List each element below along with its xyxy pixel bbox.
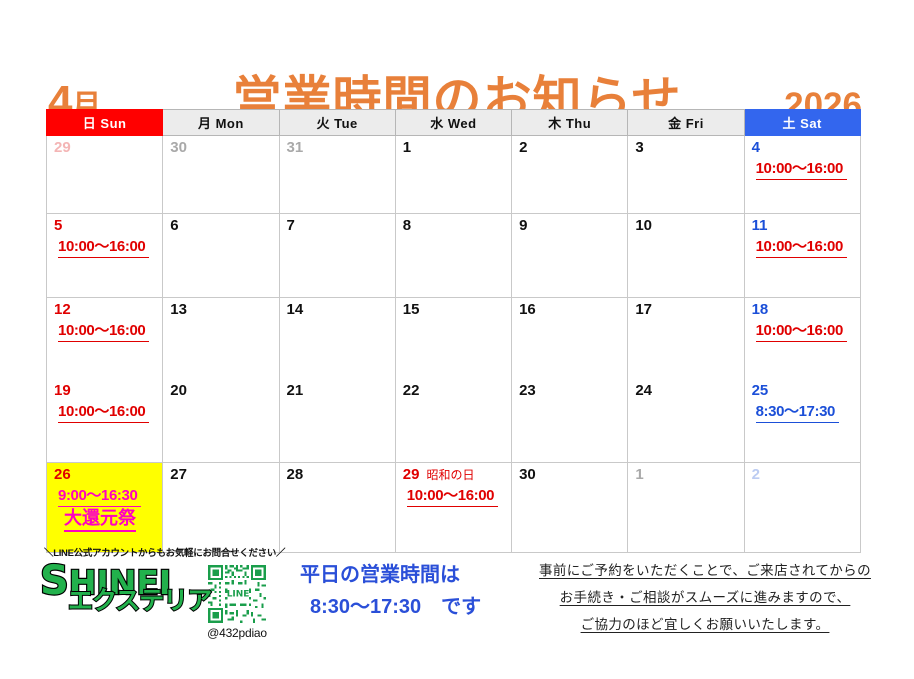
day-number: 11 — [752, 217, 855, 234]
day-number: 13 — [170, 301, 273, 318]
calendar-day-cell[interactable]: 3 — [628, 136, 744, 214]
calendar-day-cell[interactable]: 2 — [512, 136, 628, 214]
weekday-header-wed: 水 Wed — [395, 110, 511, 136]
day-number: 10 — [635, 217, 738, 234]
calendar-table: 日 Sun 月 Mon 火 Tue 水 Wed 木 Thu 金 Fri 土 Sa… — [46, 109, 861, 553]
reservation-note-line1: 事前にご予約をいただくことで、ご来店されてからの — [520, 557, 890, 584]
business-hours: 10:00～16:00 — [58, 403, 149, 423]
day-number: 4 — [752, 139, 855, 156]
business-hours: 10:00～16:00 — [58, 322, 149, 342]
calendar-week-row: 1210:00～16:0013141516171810:00～16:00 — [47, 298, 861, 380]
calendar-day-cell[interactable]: 29 — [47, 136, 163, 214]
logo-subtitle: エクステリア — [68, 589, 211, 614]
calendar-day-cell[interactable]: 410:00～16:00 — [744, 136, 860, 214]
day-number: 24 — [635, 382, 738, 399]
day-number: 12 — [54, 301, 157, 318]
day-number: 22 — [403, 382, 506, 399]
calendar-day-cell[interactable]: 1210:00～16:00 — [47, 298, 163, 380]
day-number: 6 — [170, 217, 273, 234]
calendar-day-cell[interactable]: 8 — [395, 214, 511, 298]
weekday-header-sat: 土 Sat — [744, 110, 860, 136]
calendar-day-cell[interactable]: 13 — [163, 298, 279, 380]
weekday-header-mon: 月 Mon — [163, 110, 279, 136]
day-number: 28 — [287, 466, 390, 483]
calendar-week-row: 1910:00～16:002021222324258:30～17:30 — [47, 379, 861, 463]
day-number: 31 — [287, 139, 390, 156]
day-number: 29 — [54, 139, 157, 156]
weekday-header-row: 日 Sun 月 Mon 火 Tue 水 Wed 木 Thu 金 Fri 土 Sa… — [47, 110, 861, 136]
calendar-day-cell[interactable]: 258:30～17:30 — [744, 379, 860, 463]
day-number: 20 — [170, 382, 273, 399]
calendar-day-cell[interactable]: 15 — [395, 298, 511, 380]
calendar-day-cell[interactable]: 510:00～16:00 — [47, 214, 163, 298]
weekday-hours-line1: 平日の営業時間は — [300, 564, 460, 586]
day-number: 7 — [287, 217, 390, 234]
calendar-body: 293031123410:00～16:00510:00～16:006789101… — [47, 136, 861, 553]
day-number: 9 — [519, 217, 622, 234]
calendar-day-cell[interactable]: 20 — [163, 379, 279, 463]
calendar-day-cell[interactable]: 22 — [395, 379, 511, 463]
weekday-header-thu: 木 Thu — [512, 110, 628, 136]
day-number: 16 — [519, 301, 622, 318]
weekday-header-fri: 金 Fri — [628, 110, 744, 136]
business-hours: 10:00～16:00 — [58, 238, 149, 258]
business-hours: 10:00～16:00 — [756, 322, 847, 342]
calendar-day-cell[interactable]: 29昭和の日10:00～16:00 — [395, 463, 511, 553]
calendar-day-cell[interactable]: 1110:00～16:00 — [744, 214, 860, 298]
day-number: 3 — [635, 139, 738, 156]
reservation-note-line2: お手続き・ご相談がスムーズに進みますので、 — [520, 584, 890, 611]
line-account-id: @432pdiao — [206, 626, 268, 640]
business-hours: 10:00～16:00 — [756, 160, 847, 180]
svg-text:LINE: LINE — [227, 589, 250, 599]
footer: ＼LINE公式アカウントからもお気軽にお問合せください／ SHINEI エクステ… — [0, 545, 914, 679]
calendar-day-cell[interactable]: 27 — [163, 463, 279, 553]
weekday-hours-line2: 8:30～17:30 です — [310, 591, 515, 623]
calendar-day-cell[interactable]: 7 — [279, 214, 395, 298]
calendar-day-cell[interactable]: 17 — [628, 298, 744, 380]
day-number: 29昭和の日 — [403, 466, 506, 483]
calendar-day-cell[interactable]: 269:00～16:30大還元祭 — [47, 463, 163, 553]
qr-block: LINE @432pdiao — [206, 563, 268, 640]
reservation-note-line3: ご協力のほど宜しくお願いいたします。 — [520, 611, 890, 638]
calendar-week-row: 293031123410:00～16:00 — [47, 136, 861, 214]
calendar-day-cell[interactable]: 10 — [628, 214, 744, 298]
day-number: 21 — [287, 382, 390, 399]
calendar-day-cell[interactable]: 31 — [279, 136, 395, 214]
day-number: 1 — [635, 466, 738, 483]
day-number: 30 — [519, 466, 622, 483]
holiday-label: 昭和の日 — [426, 468, 474, 482]
calendar-day-cell[interactable]: 2 — [744, 463, 860, 553]
calendar-day-cell[interactable]: 9 — [512, 214, 628, 298]
day-number: 14 — [287, 301, 390, 318]
calendar-week-row: 269:00～16:30大還元祭272829昭和の日10:00～16:00301… — [47, 463, 861, 553]
weekday-hours-note: 平日の営業時間は 8:30～17:30 です — [300, 559, 515, 623]
day-number: 30 — [170, 139, 273, 156]
calendar-day-cell[interactable]: 30 — [512, 463, 628, 553]
business-hours: 10:00～16:00 — [756, 238, 847, 258]
event-label: 大還元祭 — [64, 508, 136, 532]
calendar-week-row: 510:00～16:006789101110:00～16:00 — [47, 214, 861, 298]
calendar-day-cell[interactable]: 14 — [279, 298, 395, 380]
day-number: 26 — [54, 466, 157, 483]
day-number: 1 — [403, 139, 506, 156]
calendar-day-cell[interactable]: 1910:00～16:00 — [47, 379, 163, 463]
business-hours: 8:30～17:30 — [756, 403, 839, 423]
calendar-day-cell[interactable]: 24 — [628, 379, 744, 463]
day-number: 2 — [519, 139, 622, 156]
line-qr-code-icon[interactable]: LINE — [206, 563, 268, 625]
weekday-header-tue: 火 Tue — [279, 110, 395, 136]
day-number: 5 — [54, 217, 157, 234]
calendar-day-cell[interactable]: 1 — [395, 136, 511, 214]
day-number: 8 — [403, 217, 506, 234]
logo-initial: S — [40, 558, 69, 604]
day-number: 25 — [752, 382, 855, 399]
weekday-header-sun: 日 Sun — [47, 110, 163, 136]
day-number: 27 — [170, 466, 273, 483]
reservation-note: 事前にご予約をいただくことで、ご来店されてからの お手続き・ご相談がスムーズに進… — [520, 557, 890, 638]
calendar-day-cell[interactable]: 28 — [279, 463, 395, 553]
calendar-day-cell[interactable]: 30 — [163, 136, 279, 214]
day-number: 15 — [403, 301, 506, 318]
business-hours: 9:00～16:30 — [58, 487, 141, 507]
day-number: 18 — [752, 301, 855, 318]
calendar-day-cell[interactable]: 6 — [163, 214, 279, 298]
line-caption: ＼LINE公式アカウントからもお気軽にお問合せください／ — [44, 545, 296, 559]
calendar-day-cell[interactable]: 23 — [512, 379, 628, 463]
calendar-day-cell[interactable]: 16 — [512, 298, 628, 380]
line-account-block: ＼LINE公式アカウントからもお気軽にお問合せください／ SHINEI エクステ… — [38, 545, 296, 640]
calendar-day-cell[interactable]: 1810:00～16:00 — [744, 298, 860, 380]
day-number: 23 — [519, 382, 622, 399]
shinei-logo: SHINEI エクステリア — [38, 561, 208, 619]
day-number: 2 — [752, 466, 855, 483]
day-number: 19 — [54, 382, 157, 399]
calendar-day-cell[interactable]: 21 — [279, 379, 395, 463]
business-hours: 10:00～16:00 — [407, 487, 498, 507]
title-bar: 4月 営業時間のお知らせ 2026 — [0, 36, 914, 102]
day-number: 17 — [635, 301, 738, 318]
calendar-day-cell[interactable]: 1 — [628, 463, 744, 553]
